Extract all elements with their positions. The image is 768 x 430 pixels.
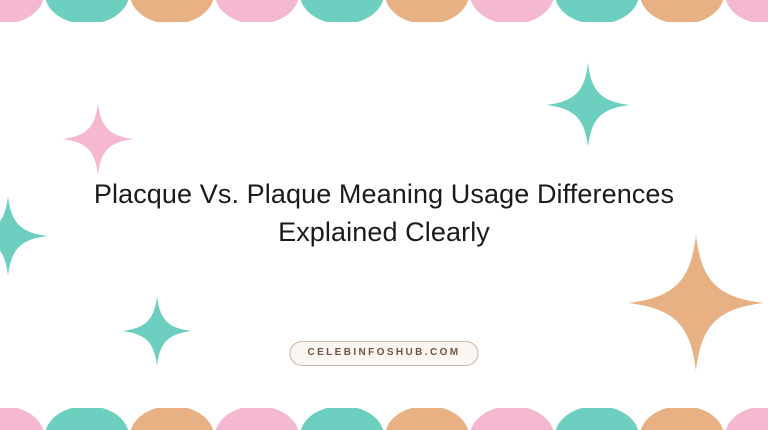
decor-top-oval (300, 0, 384, 22)
sparkle-teal-top-right-icon (546, 63, 630, 147)
page-title-line-2: Explained Clearly (0, 213, 768, 251)
thumbnail-card: Placque Vs. Plaque Meaning Usage Differe… (0, 0, 768, 430)
decor-top-oval (385, 0, 469, 22)
decor-bottom-oval (0, 408, 44, 430)
decor-top-oval (555, 0, 639, 22)
page-title: Placque Vs. Plaque Meaning Usage Differe… (0, 175, 768, 251)
decor-bottom-oval (300, 408, 384, 430)
decor-top-oval (725, 0, 768, 22)
site-watermark-badge: CELEBINFOSHUB.COM (289, 341, 478, 366)
decor-bottom-oval (725, 408, 768, 430)
decor-top-oval (470, 0, 554, 22)
sparkle-teal-lower-left-icon (122, 296, 192, 366)
site-watermark-label: CELEBINFOSHUB.COM (307, 347, 460, 359)
decor-bottom-oval (385, 408, 469, 430)
decor-top-oval (0, 0, 44, 22)
decor-bottom-oval (45, 408, 129, 430)
decor-top-oval (45, 0, 129, 22)
decor-border-bottom (0, 408, 768, 430)
decor-top-oval (640, 0, 724, 22)
decor-border-top (0, 0, 768, 22)
page-title-line-1: Placque Vs. Plaque Meaning Usage Differe… (0, 175, 768, 213)
decor-top-oval (215, 0, 299, 22)
decor-top-oval (130, 0, 214, 22)
decor-bottom-oval (640, 408, 724, 430)
sparkle-orange-large-right-icon (628, 235, 764, 371)
sparkle-pink-top-left-icon (62, 103, 134, 175)
decor-bottom-oval (470, 408, 554, 430)
decor-bottom-oval (555, 408, 639, 430)
decor-bottom-oval (130, 408, 214, 430)
decor-bottom-oval (215, 408, 299, 430)
